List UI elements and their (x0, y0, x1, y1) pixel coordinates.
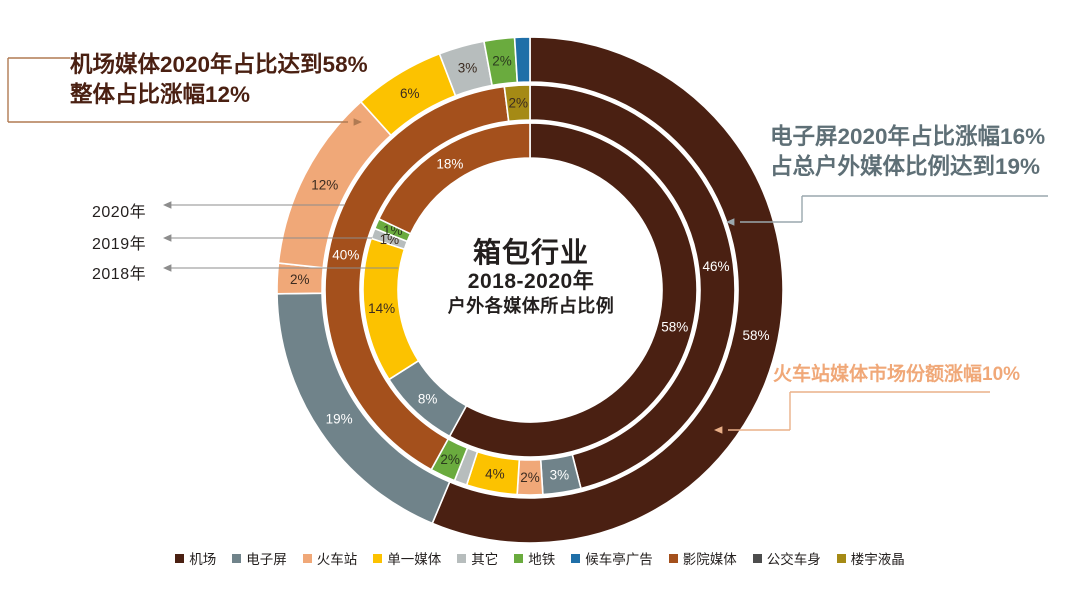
year-label-2019: 2019年 (92, 230, 146, 254)
legend-item[interactable]: 楼宇液晶 (837, 548, 905, 568)
year-2018-arrow-icon (163, 264, 171, 271)
slice-value-label: 2% (440, 452, 460, 467)
legend-swatch-icon (303, 554, 312, 563)
slice-value-label: 3% (550, 468, 570, 483)
legend-swatch-icon (669, 554, 678, 563)
slice-value-label: 46% (703, 259, 730, 274)
donut-slice-候车亭广告[interactable] (515, 37, 530, 82)
legend-label: 机场 (189, 548, 216, 568)
legend-item[interactable]: 地铁 (514, 548, 555, 568)
legend-label: 单一媒体 (387, 548, 441, 568)
legend-swatch-icon (571, 554, 580, 563)
slice-value-label: 14% (368, 301, 395, 316)
legend-label: 地铁 (528, 548, 555, 568)
slice-value-label: 8% (418, 391, 438, 406)
legend-label: 楼宇液晶 (851, 548, 905, 568)
legend-item[interactable]: 电子屏 (232, 548, 287, 568)
chart-canvas: 58%19%2%12%6%3%2%46%3%2%4%2%40%2%58%8%14… (0, 0, 1080, 597)
legend-item[interactable]: 影院媒体 (669, 548, 737, 568)
slice-value-label: 58% (661, 320, 688, 335)
legend-item[interactable]: 公交车身 (753, 548, 821, 568)
legend-label: 其它 (471, 548, 498, 568)
legend-item[interactable]: 火车站 (303, 548, 358, 568)
legend-swatch-icon (175, 554, 184, 563)
legend-item[interactable]: 候车亭广告 (571, 548, 653, 568)
annotation-airport-line1: 机场媒体2020年占比达到58% (70, 50, 368, 80)
legend-label: 影院媒体 (683, 548, 737, 568)
slice-value-label: 2% (508, 95, 528, 110)
legend-label: 电子屏 (246, 548, 287, 568)
chart-legend: 机场电子屏火车站单一媒体其它地铁候车亭广告影院媒体公交车身楼宇液晶 (0, 548, 1080, 568)
legend-swatch-icon (232, 554, 241, 563)
annotation-screen-line1: 电子屏2020年占比涨幅16% (770, 122, 1045, 152)
legend-swatch-icon (514, 554, 523, 563)
year-2019-arrow-icon (163, 234, 171, 241)
legend-swatch-icon (753, 554, 762, 563)
annotation-airport: 机场媒体2020年占比达到58% 整体占比涨幅12% (70, 50, 368, 109)
legend-swatch-icon (457, 554, 466, 563)
year-label-2018: 2018年 (92, 260, 146, 284)
annotation-train-line1: 火车站媒体市场份额涨幅10% (773, 362, 1020, 387)
legend-label: 公交车身 (767, 548, 821, 568)
slice-value-label: 2% (492, 54, 512, 69)
slice-value-label: 2% (290, 272, 310, 287)
annotation-train-station: 火车站媒体市场份额涨幅10% (773, 362, 1020, 387)
slice-value-label: 40% (332, 247, 359, 262)
legend-item[interactable]: 其它 (457, 548, 498, 568)
annotation-electronic-screen: 电子屏2020年占比涨幅16% 占总户外媒体比例达到19% (770, 122, 1045, 181)
legend-label: 火车站 (317, 548, 358, 568)
annotation-screen-line2: 占总户外媒体比例达到19% (770, 152, 1045, 182)
legend-swatch-icon (373, 554, 382, 563)
legend-label: 候车亭广告 (585, 548, 653, 568)
year-2020-arrow-icon (163, 201, 171, 208)
donut-rings: 58%19%2%12%6%3%2%46%3%2%4%2%40%2%58%8%14… (277, 37, 783, 543)
slice-value-label: 3% (458, 61, 478, 76)
year-label-2020: 2020年 (92, 198, 146, 222)
legend-item[interactable]: 单一媒体 (373, 548, 441, 568)
slice-value-label: 2% (520, 470, 540, 485)
donut-ring-2018年: 58%8%14%1%1%18% (363, 123, 697, 457)
slice-value-label: 19% (326, 412, 353, 427)
slice-value-label: 4% (485, 467, 505, 482)
slice-value-label: 18% (436, 156, 463, 171)
slice-value-label: 58% (742, 328, 769, 343)
legend-item[interactable]: 机场 (175, 548, 216, 568)
slice-value-label: 12% (311, 178, 338, 193)
slice-value-label: 6% (400, 86, 420, 101)
annotation-airport-line2: 整体占比涨幅12% (70, 80, 368, 110)
legend-swatch-icon (837, 554, 846, 563)
